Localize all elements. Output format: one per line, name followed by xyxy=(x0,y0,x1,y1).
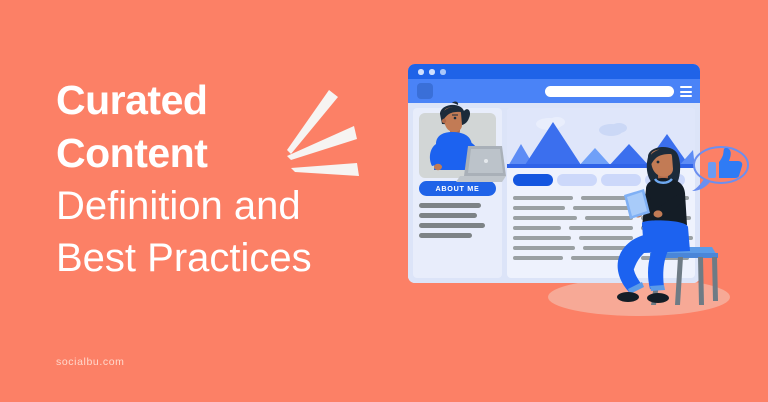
content-text-line xyxy=(513,216,577,220)
poster-canvas: Curated Content Definition and Best Prac… xyxy=(0,0,768,402)
profile-text-line xyxy=(419,223,485,228)
window-dot-maximize-icon xyxy=(440,69,446,75)
content-text-line xyxy=(513,246,575,250)
content-text-line xyxy=(513,236,571,240)
profile-text-line xyxy=(419,233,472,238)
content-text-line xyxy=(513,226,561,230)
content-text-line xyxy=(513,256,563,260)
title-line-4: Best Practices xyxy=(56,232,396,284)
profile-text-line xyxy=(419,213,477,218)
hamburger-menu-icon[interactable] xyxy=(680,86,692,97)
window-dot-minimize-icon xyxy=(429,69,435,75)
content-tab[interactable] xyxy=(557,174,597,186)
spark-rays-icon xyxy=(285,88,365,183)
profile-text-line xyxy=(419,203,481,208)
content-text-line xyxy=(513,196,573,200)
site-logo-icon xyxy=(417,83,433,99)
browser-titlebar xyxy=(408,64,700,79)
title-line-3: Definition and xyxy=(56,180,396,232)
search-input[interactable] xyxy=(545,86,674,97)
window-dot-close-icon xyxy=(418,69,424,75)
man-with-laptop xyxy=(414,100,506,186)
content-tab[interactable] xyxy=(513,174,553,186)
footer-url: socialbu.com xyxy=(56,356,124,368)
content-text-line xyxy=(513,206,565,210)
thumbs-up-speech-bubble xyxy=(688,143,750,195)
